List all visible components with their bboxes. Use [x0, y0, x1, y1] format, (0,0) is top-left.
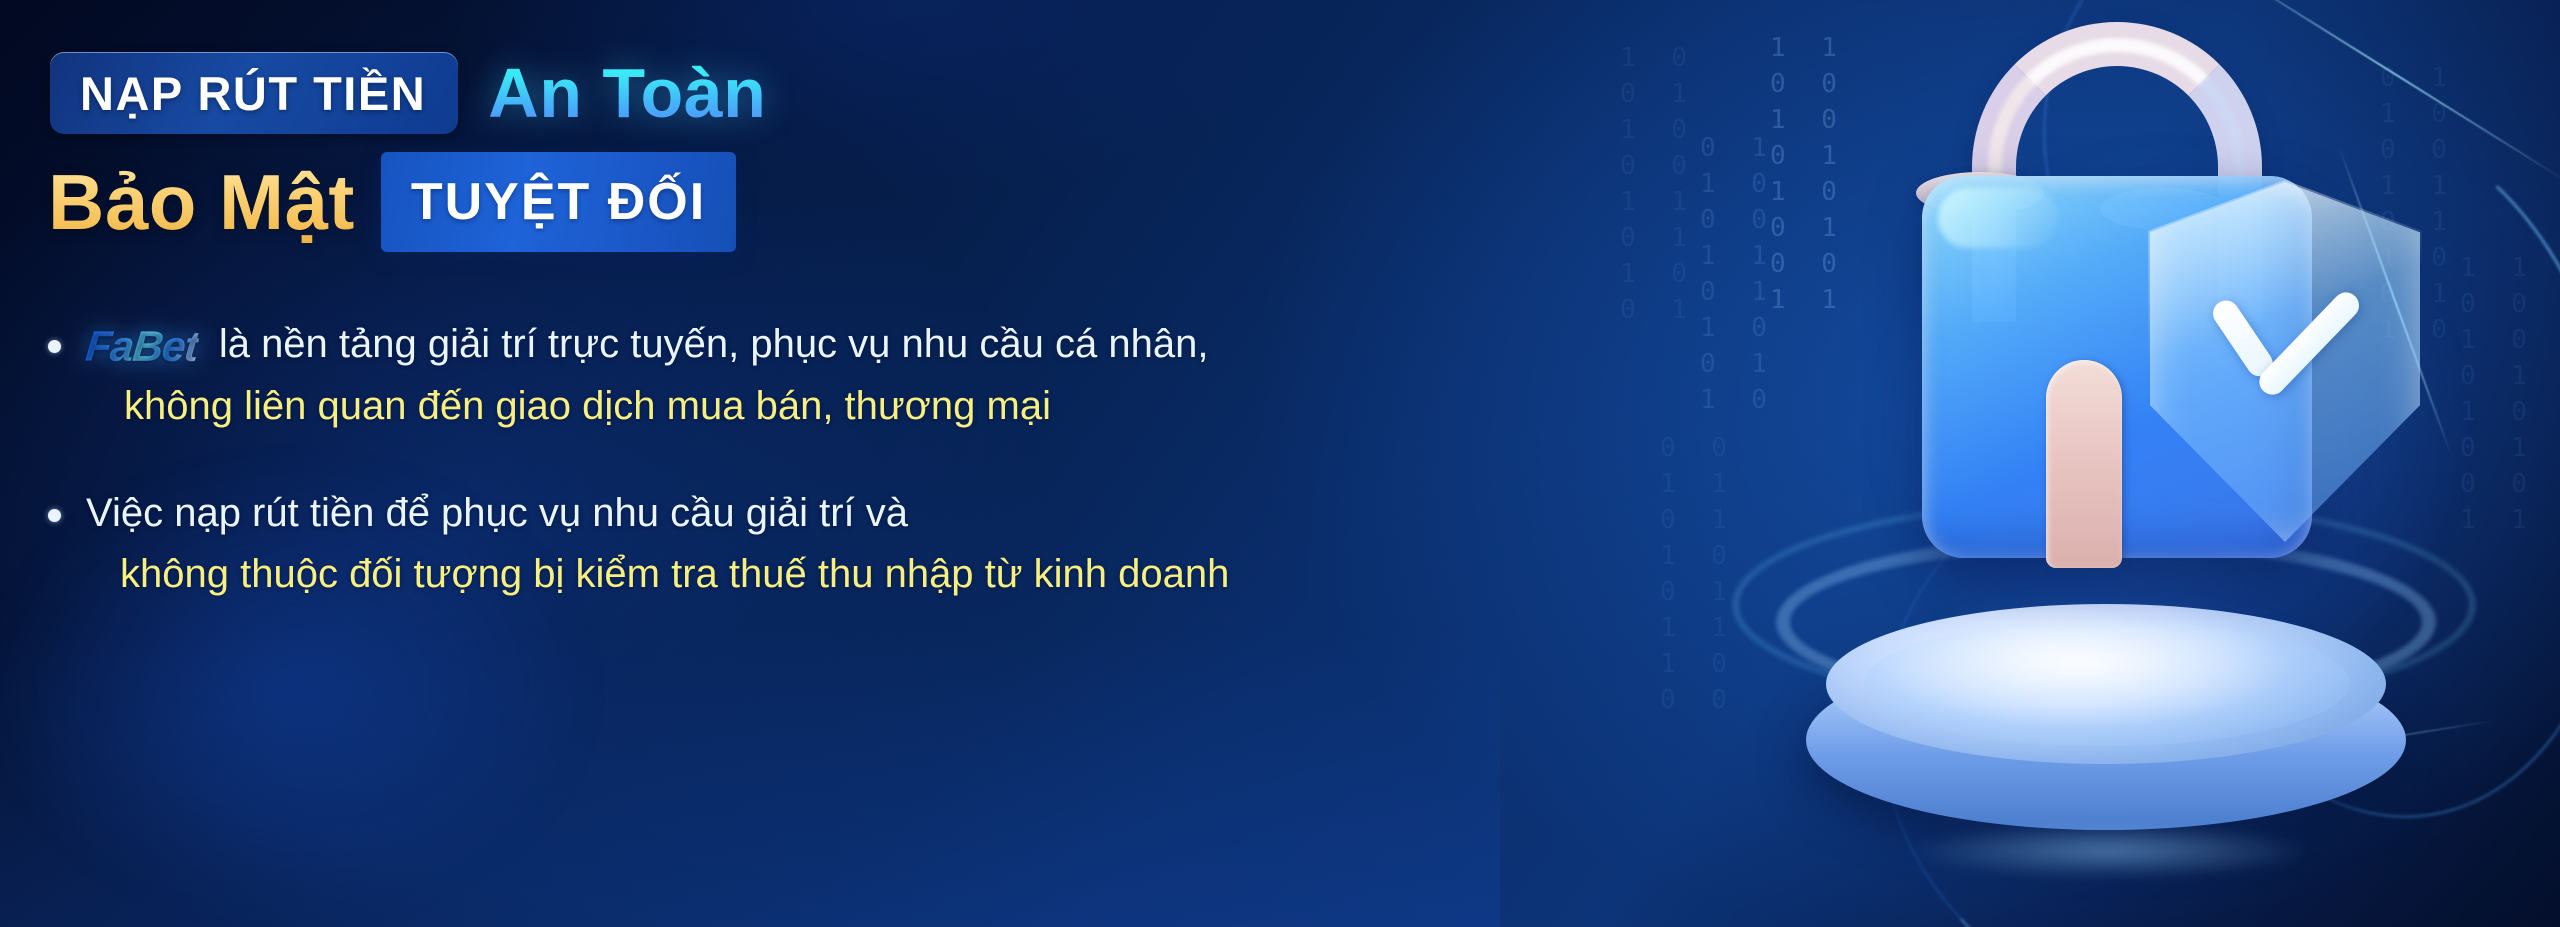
- headline-row-2: Bảo Mật TUYỆT ĐỐI: [48, 152, 736, 252]
- badge-nap-rut-tien: NẠP RÚT TIỀN: [50, 52, 458, 134]
- padlock-illustration: [1700, 0, 2560, 927]
- badge-tuyet-doi: TUYỆT ĐỐI: [381, 152, 736, 252]
- list-item: Việc nạp rút tiền để phục vụ nhu cầu giả…: [48, 487, 1668, 601]
- bullet-1-line-2: không liên quan đến giao dịch mua bán, t…: [124, 380, 1668, 433]
- bullet-1-line-1: FaBet là nền tảng giải trí trực tuyến, p…: [86, 318, 1668, 374]
- headline-row-1: NẠP RÚT TIỀN An Toàn: [50, 52, 766, 134]
- bullet-dot-icon: [48, 340, 61, 353]
- check-icon: [2206, 286, 2366, 396]
- bullet-dot-icon: [48, 509, 61, 522]
- bullet-list: FaBet là nền tảng giải trí trực tuyến, p…: [48, 318, 1668, 643]
- headline-gold-bao-mat: Bảo Mật: [48, 157, 355, 248]
- badge-tuyet-doi-label: TUYỆT ĐỐI: [411, 172, 706, 232]
- pedestal-inner-ring: [1864, 620, 2350, 746]
- bullet-1-line-1-text: là nền tảng giải trí trực tuyến, phục vụ…: [208, 322, 1209, 366]
- promo-banner: 1 0 0 1 1 0 0 0 1 1 0 1 1 0 0 1 0 1 1 0 …: [0, 0, 2560, 927]
- badge-nap-rut-tien-label: NẠP RÚT TIỀN: [80, 66, 426, 121]
- headline-accent-an-toan: An Toàn: [488, 53, 766, 133]
- bullet-2-line-1: Việc nạp rút tiền để phục vụ nhu cầu giả…: [86, 487, 1668, 540]
- list-item: FaBet là nền tảng giải trí trực tuyến, p…: [48, 318, 1668, 433]
- fabet-logo: FaBet: [83, 319, 201, 374]
- check-stroke-long: [2254, 287, 2364, 400]
- copy-block: NẠP RÚT TIỀN An Toàn Bảo Mật TUYỆT ĐỐI F…: [0, 0, 1700, 927]
- floor-reflection: [1850, 816, 2370, 886]
- keyhole-icon: [2046, 360, 2122, 568]
- bullet-2-line-2: không thuộc đối tượng bị kiểm tra thuế t…: [120, 548, 1668, 601]
